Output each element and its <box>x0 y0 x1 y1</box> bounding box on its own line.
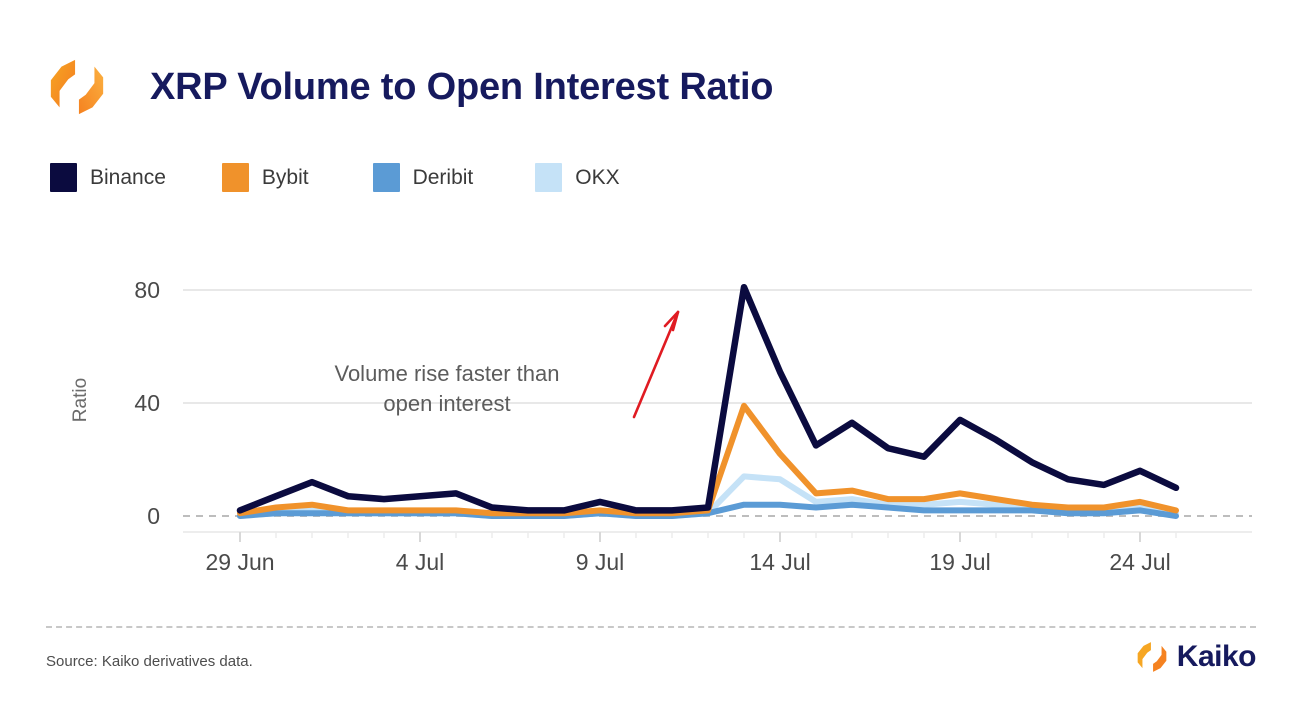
kaiko-logo-icon <box>1135 640 1169 674</box>
chart-series-layer <box>240 287 1176 516</box>
x-tick-label: 29 Jun <box>205 549 274 575</box>
y-tick-label: 40 <box>134 390 160 416</box>
chart-plot-area: 80 40 0 Ratio 29 Jun4 Jul9 Jul14 Jul19 J… <box>0 0 1302 702</box>
annotation-line-2: open interest <box>383 391 510 416</box>
y-axis-ticks: 80 40 0 <box>134 277 160 529</box>
y-axis-title: Ratio <box>70 378 91 422</box>
source-note: Source: Kaiko derivatives data. <box>46 653 253 670</box>
x-tick-label: 14 Jul <box>749 549 810 575</box>
series-line-binance[interactable] <box>240 287 1176 510</box>
x-axis-ticks: 29 Jun4 Jul9 Jul14 Jul19 Jul24 Jul <box>205 532 1176 575</box>
y-tick-label: 0 <box>147 503 160 529</box>
up-right-arrow-icon <box>634 312 678 417</box>
x-tick-label: 9 Jul <box>576 549 625 575</box>
x-tick-label: 4 Jul <box>396 549 445 575</box>
footer-brand: Kaiko <box>1135 640 1256 674</box>
x-tick-label: 24 Jul <box>1109 549 1170 575</box>
chart-annotation: Volume rise faster than open interest <box>334 312 678 417</box>
chart-page: XRP Volume to Open Interest Ratio Binanc… <box>0 0 1302 702</box>
annotation-line-1: Volume rise faster than <box>334 361 559 386</box>
footer-divider <box>46 626 1256 628</box>
y-tick-label: 80 <box>134 277 160 303</box>
footer-brand-text: Kaiko <box>1177 640 1256 674</box>
x-tick-label: 19 Jul <box>929 549 990 575</box>
